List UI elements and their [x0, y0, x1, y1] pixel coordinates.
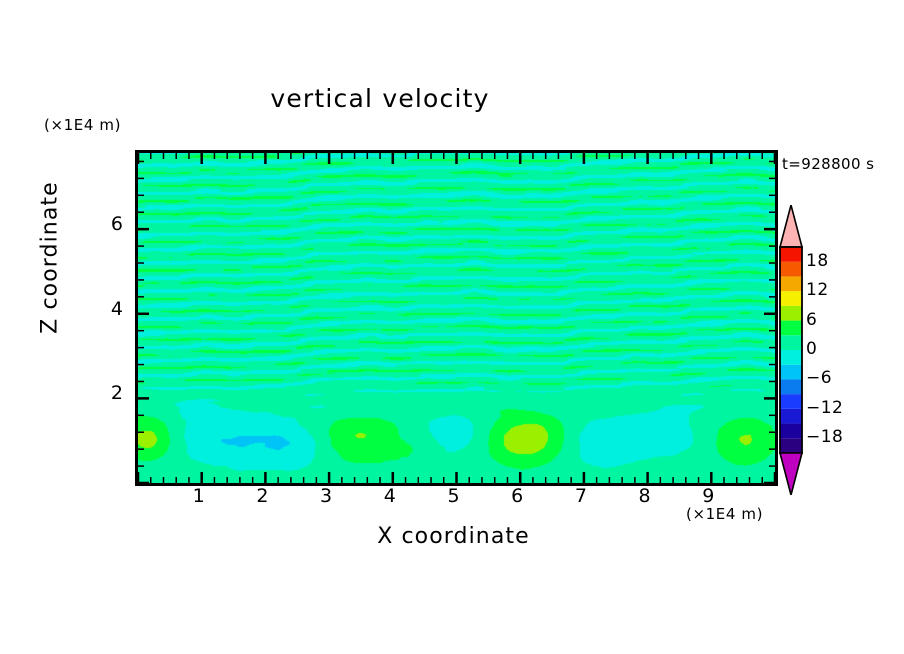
colorbar-label-0: 0	[806, 339, 817, 359]
colorbar-label-6: 6	[806, 310, 817, 330]
colorbar[interactable]: 181260−6−12−18	[778, 205, 806, 499]
figure-canvas: vertical velocity (×1E4 m) (×1E4 m) t=92…	[0, 0, 904, 654]
x-tick-label-5: 5	[434, 485, 474, 507]
colorbar-gradient	[778, 205, 806, 495]
contour-field	[138, 153, 775, 483]
x-axis-title: X coordinate	[135, 524, 772, 549]
x-tick-label-9: 9	[688, 485, 728, 507]
colorbar-label-12: 12	[806, 280, 829, 300]
y-tick-label-4: 4	[95, 298, 123, 320]
x-tick-label-8: 8	[625, 485, 665, 507]
x-tick-label-1: 1	[179, 485, 219, 507]
colorbar-label-neg6: −6	[806, 368, 832, 388]
contour-plot-area	[135, 150, 778, 486]
x-tick-label-2: 2	[242, 485, 282, 507]
x-tick-label-3: 3	[306, 485, 346, 507]
x-axis-units-label: (×1E4 m)	[686, 505, 763, 523]
x-tick-label-6: 6	[497, 485, 537, 507]
y-tick-label-2: 2	[95, 382, 123, 404]
colorbar-label-neg12: −12	[806, 398, 843, 418]
page-title: vertical velocity	[0, 84, 760, 113]
y-tick-label-6: 6	[95, 213, 123, 235]
x-tick-label-7: 7	[561, 485, 601, 507]
colorbar-label-neg18: −18	[806, 427, 843, 447]
colorbar-label-18: 18	[806, 251, 829, 271]
y-axis-title: Z coordinate	[38, 178, 63, 338]
x-tick-label-4: 4	[370, 485, 410, 507]
z-axis-units-label: (×1E4 m)	[44, 116, 121, 134]
timestamp-annotation: t=928800 s	[782, 155, 874, 173]
